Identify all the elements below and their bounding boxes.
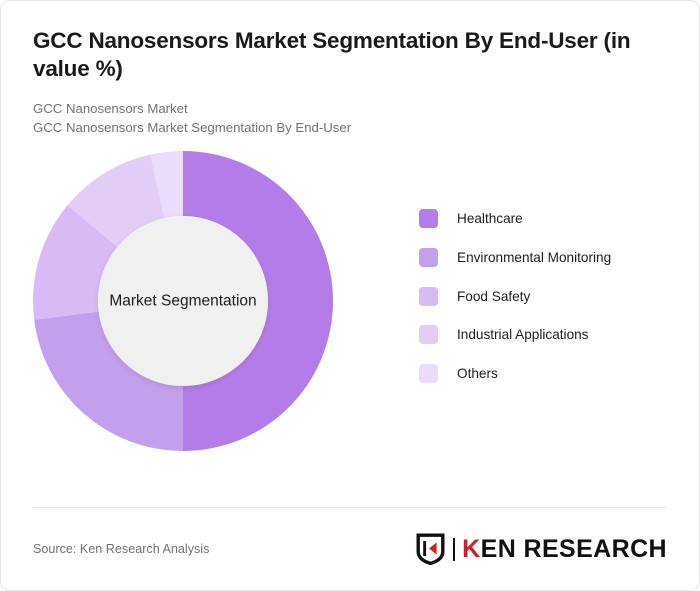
brand-logo: KEN RESEARCH [416, 533, 667, 565]
chart-footer: Source: Ken Research Analysis KEN RESEAR… [33, 507, 667, 590]
chart-header: GCC Nanosensors Market Segmentation By E… [1, 1, 699, 138]
donut-svg: Market Segmentation [33, 151, 333, 451]
legend-item[interactable]: Food Safety [419, 277, 669, 316]
subtitle-group: GCC Nanosensors Market GCC Nanosensors M… [33, 99, 667, 137]
brand-name-rest: EN RESEARCH [481, 535, 667, 563]
legend-swatch [419, 287, 438, 306]
legend-swatch [419, 364, 438, 383]
legend-swatch [419, 248, 438, 267]
legend-item[interactable]: Industrial Applications [419, 315, 669, 354]
legend-label: Others [457, 366, 498, 381]
chart-body: Market Segmentation HealthcareEnvironmen… [1, 138, 699, 478]
subtitle-market: GCC Nanosensors Market [33, 99, 667, 118]
legend-label: Healthcare [457, 211, 523, 226]
ken-research-shield-icon [416, 533, 445, 565]
legend-item[interactable]: Others [419, 354, 669, 393]
legend-label: Environmental Monitoring [457, 250, 611, 265]
legend-swatch [419, 209, 438, 228]
brand-name: KEN RESEARCH [462, 537, 667, 562]
legend-label: Industrial Applications [457, 327, 588, 342]
source-note: Source: Ken Research Analysis [33, 542, 209, 556]
legend-swatch [419, 325, 438, 344]
page-title: GCC Nanosensors Market Segmentation By E… [33, 27, 667, 83]
chart-card: GCC Nanosensors Market Segmentation By E… [0, 0, 700, 591]
legend-item[interactable]: Environmental Monitoring [419, 238, 669, 277]
donut-center-label: Market Segmentation [109, 292, 256, 309]
brand-divider [453, 538, 455, 561]
legend-item[interactable]: Healthcare [419, 200, 669, 239]
chart-legend: HealthcareEnvironmental MonitoringFood S… [419, 200, 669, 393]
subtitle-segmentation: GCC Nanosensors Market Segmentation By E… [33, 118, 667, 137]
donut-chart: Market Segmentation [33, 151, 333, 451]
legend-label: Food Safety [457, 289, 530, 304]
brand-name-k: K [462, 535, 480, 563]
